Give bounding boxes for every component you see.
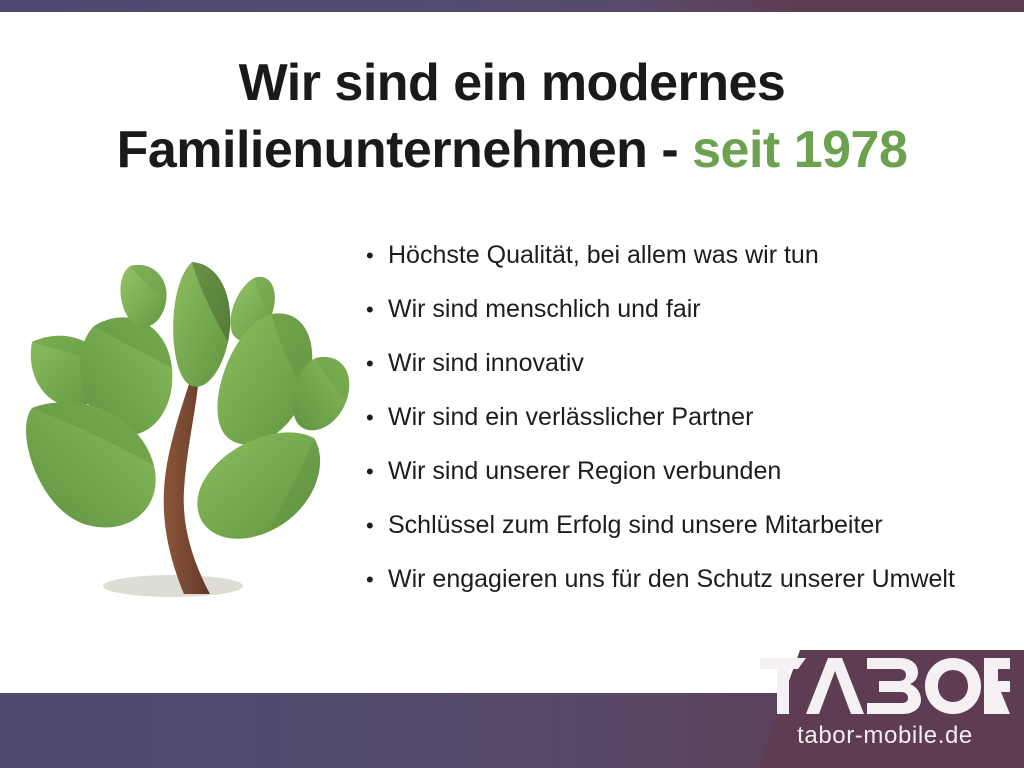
bullet-dot-icon: •: [366, 299, 388, 321]
list-item: • Wir sind menschlich und fair: [366, 297, 1016, 351]
list-item: • Wir sind unserer Region verbunden: [366, 459, 1016, 513]
top-accent-bar: [0, 0, 1024, 12]
tabor-logo: [760, 658, 1010, 714]
list-item-label: Wir sind ein verlässlicher Partner: [388, 405, 753, 430]
bullet-dot-icon: •: [366, 515, 388, 537]
list-item-label: Schlüssel zum Erfolg sind unsere Mitarbe…: [388, 513, 883, 538]
page-title: Wir sind ein modernes Familienunternehme…: [0, 50, 1024, 183]
list-item: • Schlüssel zum Erfolg sind unsere Mitar…: [366, 513, 1016, 567]
tree-illustration: [18, 258, 358, 610]
headline-line-2-plain: Familienunternehmen -: [117, 121, 693, 179]
list-item: • Wir sind innovativ: [366, 351, 1016, 405]
list-item-label: Wir engagieren uns für den Schutz unsere…: [388, 567, 955, 592]
list-item-label: Wir sind innovativ: [388, 351, 584, 376]
list-item: • Höchste Qualität, bei allem was wir tu…: [366, 243, 1016, 297]
headline-accent-year: seit 1978: [692, 121, 907, 179]
logo-url: tabor-mobile.de: [760, 722, 1010, 750]
bullet-dot-icon: •: [366, 461, 388, 483]
bullet-dot-icon: •: [366, 353, 388, 375]
tree-shadow: [103, 575, 243, 597]
slide-canvas: Wir sind ein modernes Familienunternehme…: [0, 0, 1024, 768]
list-item-label: Wir sind unserer Region verbunden: [388, 459, 781, 484]
list-item-label: Wir sind menschlich und fair: [388, 297, 701, 322]
bullet-dot-icon: •: [366, 245, 388, 267]
headline-line-2: Familienunternehmen - seit 1978: [0, 117, 1024, 184]
bullet-dot-icon: •: [366, 569, 388, 591]
list-item: • Wir engagieren uns für den Schutz unse…: [366, 567, 1016, 621]
bullet-dot-icon: •: [366, 407, 388, 429]
list-item: • Wir sind ein verlässlicher Partner: [366, 405, 1016, 459]
bullet-list: • Höchste Qualität, bei allem was wir tu…: [366, 243, 1016, 621]
list-item-label: Höchste Qualität, bei allem was wir tun: [388, 243, 819, 268]
headline-line-1: Wir sind ein modernes: [0, 50, 1024, 117]
